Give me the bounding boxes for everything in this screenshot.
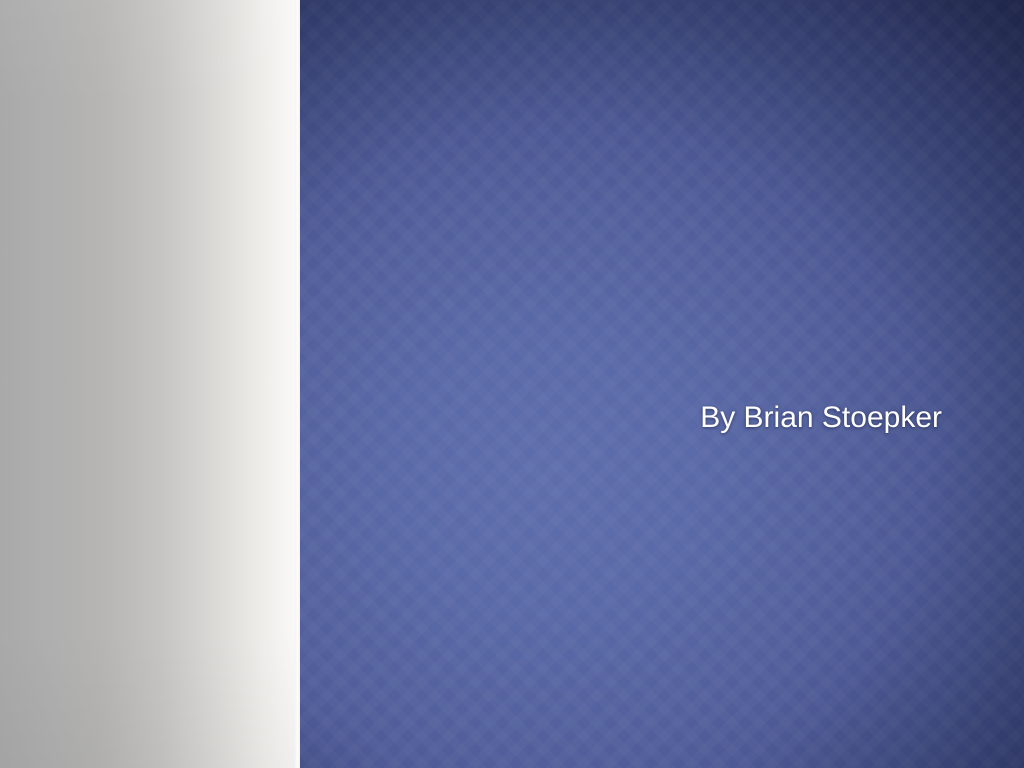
slide-title: User Interaction (385, 176, 945, 370)
left-gray-panel (0, 0, 300, 768)
slide-subtitle: By Brian Stoepker (382, 400, 942, 436)
presentation-slide: User Interaction By Brian Stoepker (0, 0, 1024, 768)
slide-text-block: User Interaction By Brian Stoepker (300, 0, 1024, 768)
